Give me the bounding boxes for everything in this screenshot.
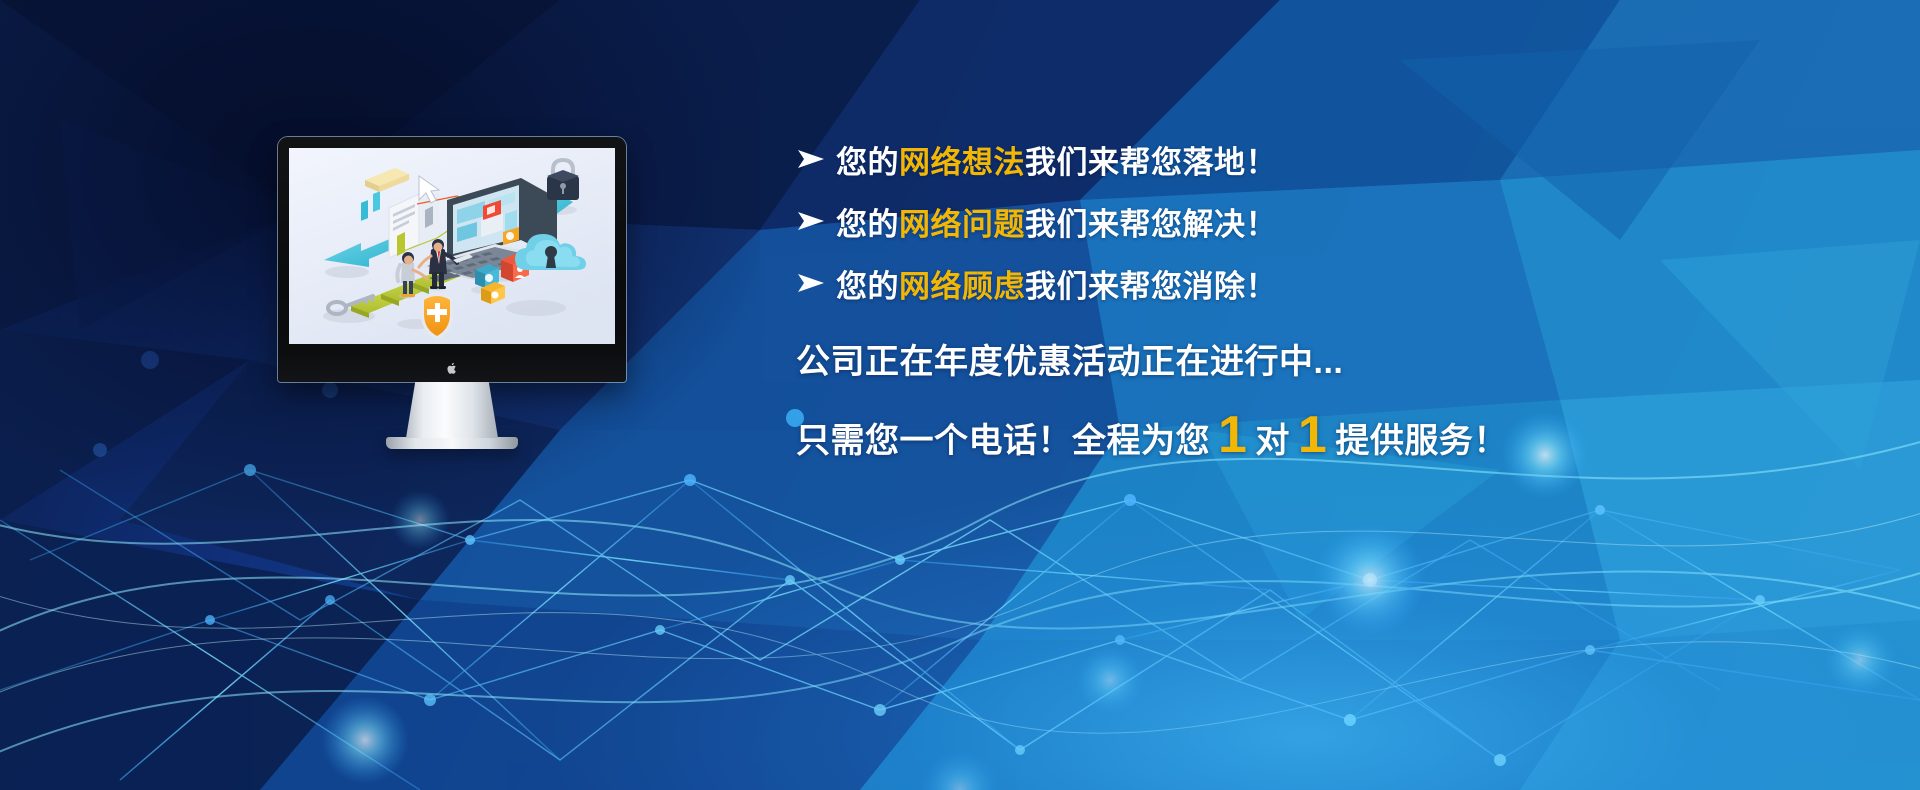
- bullet-3-prefix: 您的: [836, 269, 899, 304]
- cta-part2: 对: [1255, 413, 1290, 462]
- monitor-body: [278, 137, 626, 382]
- bullet-row-2: 您的网络问题我们来帮您解决！: [796, 190, 1796, 252]
- cta-number-1b: 1: [1290, 409, 1335, 461]
- bullet-text-2: 您的网络问题我们来帮您解决！: [836, 199, 1277, 244]
- monitor-chin-bezel: [278, 355, 626, 382]
- cta-part1: 只需您一个电话！全程为您: [796, 413, 1210, 462]
- bullet-text-3: 您的网络顾虑我们来帮您消除！: [836, 261, 1277, 306]
- bullet-row-3: 您的网络顾虑我们来帮您消除！: [796, 252, 1796, 314]
- apple-display-monitor: [278, 137, 626, 449]
- promo-line: 公司正在年度优惠活动正在进行中...: [796, 334, 1796, 383]
- cta-line: 只需您一个电话！全程为您 1 对 1 提供服务！: [796, 409, 1796, 462]
- bullet-1-prefix: 您的: [836, 145, 899, 180]
- copy-block: 您的网络想法我们来帮您落地！ 您的网络问题我们来帮您解决！ 您的网络顾虑我们来帮…: [796, 128, 1796, 462]
- isometric-network-illustration: [289, 148, 615, 344]
- cta-part3: 提供服务！: [1335, 413, 1508, 462]
- bullet-row-1: 您的网络想法我们来帮您落地！: [796, 128, 1796, 190]
- apple-logo-icon: [447, 362, 458, 375]
- bullet-2-prefix: 您的: [836, 207, 899, 242]
- arrow-right-bullet-icon: [796, 210, 836, 232]
- bullet-3-highlight: 网络顾虑: [899, 269, 1025, 304]
- monitor-stand-base: [386, 437, 518, 449]
- bullet-1-suffix: 我们来帮您落地！: [1025, 145, 1277, 180]
- bullet-2-highlight: 网络问题: [899, 207, 1025, 242]
- promo-banner: 您的网络想法我们来帮您落地！ 您的网络问题我们来帮您解决！ 您的网络顾虑我们来帮…: [0, 0, 1920, 790]
- cta-number-1a: 1: [1210, 409, 1255, 461]
- bullet-3-suffix: 我们来帮您消除！: [1025, 269, 1277, 304]
- bullet-1-highlight: 网络想法: [899, 145, 1025, 180]
- arrow-right-bullet-icon: [796, 148, 836, 170]
- monitor-stand-neck: [406, 382, 498, 438]
- monitor-screen: [289, 148, 615, 344]
- arrow-right-bullet-icon: [796, 272, 836, 294]
- bullet-2-suffix: 我们来帮您解决！: [1025, 207, 1277, 242]
- bullet-text-1: 您的网络想法我们来帮您落地！: [836, 137, 1277, 182]
